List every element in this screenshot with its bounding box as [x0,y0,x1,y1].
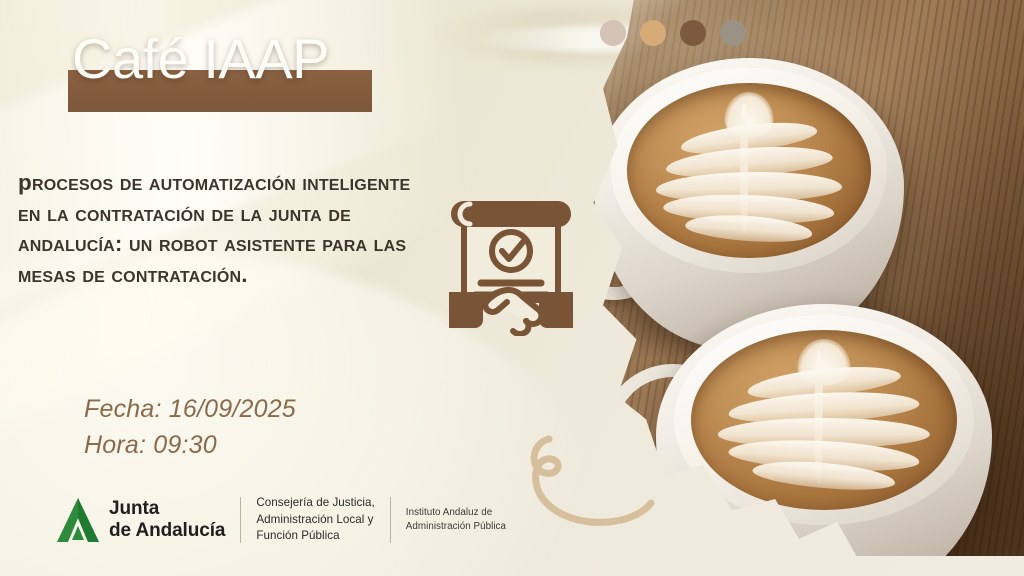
logo-divider-2 [390,497,391,543]
footer-logo-lockup: Junta de Andalucía Consejería de Justici… [55,492,506,548]
dot-4-icon [720,20,746,46]
event-date: Fecha: 16/09/2025 [84,392,296,428]
instituto-line-2: Administración Pública [406,520,506,534]
dot-2-icon [640,20,666,46]
junta-wordmark: Junta de Andalucía [109,498,225,543]
instituto-block: Instituto Andaluz de Administración Públ… [406,506,506,534]
consejeria-line-1: Consejería de Justicia, [256,495,374,511]
swirl-flourish-icon [505,425,675,545]
event-meta: Fecha: 16/09/2025 Hora: 09:30 [84,392,296,463]
headline-text: Procesos de automatización inteligente e… [18,168,436,290]
cup-crema-surface [691,330,956,510]
event-time: Hora: 09:30 [84,428,296,464]
latte-art-rosetta [627,83,872,258]
handshake-glyph [449,290,573,334]
consejeria-line-3: Función Pública [256,528,374,544]
consejeria-block: Consejería de Justicia, Administración L… [256,495,374,544]
junta-line-2: de Andalucía [109,520,225,542]
cup-crema-surface [627,83,872,258]
junta-line-1: Junta [109,498,225,520]
contract-handshake-icon [447,188,575,336]
dot-3-icon [680,20,706,46]
junta-de-andalucia-logo-icon [55,496,101,544]
poster-canvas: Café IAAP Procesos de automatización int… [0,0,1024,576]
dot-1-icon [600,20,626,46]
decorative-dot-row [600,20,746,46]
brand-title: Café IAAP [72,30,329,89]
logo-divider-1 [240,497,241,543]
instituto-line-1: Instituto Andaluz de [406,506,506,520]
latte-art-rosetta [691,330,956,510]
consejeria-line-2: Administración Local y [256,512,374,528]
